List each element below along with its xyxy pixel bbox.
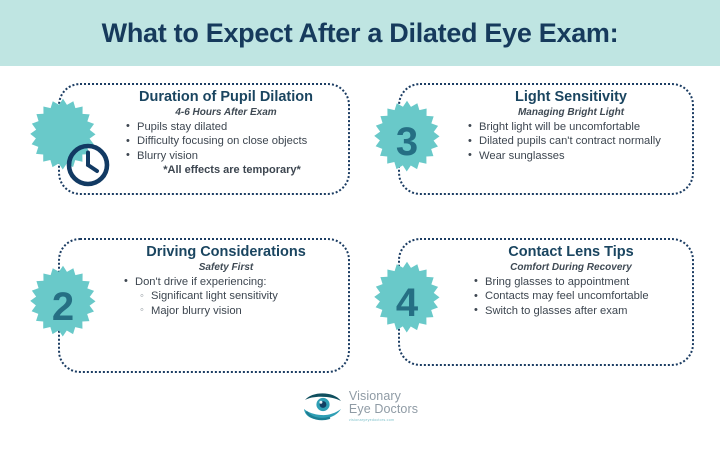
- eye-logo-icon: [302, 388, 344, 429]
- logo-group[interactable]: Visionary Eye Doctors visionaryeyedoctor…: [302, 388, 418, 429]
- header-banner: What to Expect After a Dilated Eye Exam:: [0, 0, 720, 66]
- list-item: Pupils stay dilated: [124, 120, 340, 135]
- list-item: Major blurry vision: [122, 304, 340, 319]
- list-item: Contacts may feel uncomfortable: [472, 289, 684, 304]
- card-subtitle: Safety First: [112, 262, 340, 274]
- card-title: Light Sensitivity: [458, 89, 684, 106]
- card-bullet-list: Don't drive if experiencing: Significant…: [122, 275, 340, 319]
- card-subtitle: 4-6 Hours After Exam: [112, 107, 340, 119]
- card-title: Duration of Pupil Dilation: [112, 89, 340, 106]
- logo-wordmark: Visionary Eye Doctors visionaryeyedoctor…: [349, 388, 418, 422]
- list-item: Switch to glasses after exam: [472, 304, 684, 319]
- page-title: What to Expect After a Dilated Eye Exam:: [102, 18, 619, 49]
- badge-number-label: 2: [52, 287, 74, 327]
- badge-number-3: 3: [364, 99, 450, 185]
- card-bullet-list: Pupils stay dilated Difficulty focusing …: [124, 120, 340, 178]
- list-item: Bring glasses to appointment: [472, 275, 684, 290]
- card-note: *All effects are temporary*: [124, 163, 340, 177]
- list-item: Dilated pupils can't contract normally: [466, 134, 684, 149]
- card-driving-considerations[interactable]: 2 Driving Considerations Safety First Do…: [58, 238, 350, 373]
- list-item: Significant light sensitivity: [122, 289, 340, 304]
- list-item: Don't drive if experiencing:: [122, 275, 340, 290]
- logo-line-2: Eye Doctors: [349, 403, 418, 416]
- badge-number-label: 3: [396, 122, 418, 162]
- card-light-sensitivity[interactable]: 3 Light Sensitivity Managing Bright Ligh…: [398, 83, 694, 195]
- card-subtitle: Managing Bright Light: [458, 107, 684, 119]
- logo-line-1: Visionary: [349, 390, 418, 403]
- card-bullet-list: Bring glasses to appointment Contacts ma…: [472, 275, 684, 319]
- badge-clock: [20, 97, 106, 183]
- badge-number-label: 4: [396, 283, 418, 323]
- card-title: Driving Considerations: [112, 244, 340, 261]
- list-item: Wear sunglasses: [466, 149, 684, 164]
- card-bullet-list: Bright light will be uncomfortable Dilat…: [466, 120, 684, 164]
- list-item: Difficulty focusing on close objects: [124, 134, 340, 149]
- list-item: Blurry vision: [124, 149, 340, 164]
- badge-number-2: 2: [20, 264, 106, 350]
- card-subtitle: Comfort During Recovery: [458, 262, 684, 274]
- logo-tagline: visionaryeyedoctors.com: [349, 418, 418, 422]
- footer-logo[interactable]: Visionary Eye Doctors visionaryeyedoctor…: [0, 388, 720, 434]
- card-title: Contact Lens Tips: [458, 244, 684, 261]
- cards-grid: Duration of Pupil Dilation 4-6 Hours Aft…: [0, 66, 720, 384]
- list-item: Bright light will be uncomfortable: [466, 120, 684, 135]
- card-duration-of-pupil-dilation[interactable]: Duration of Pupil Dilation 4-6 Hours Aft…: [58, 83, 350, 195]
- badge-number-4: 4: [364, 260, 450, 346]
- card-contact-lens-tips[interactable]: 4 Contact Lens Tips Comfort During Recov…: [398, 238, 694, 366]
